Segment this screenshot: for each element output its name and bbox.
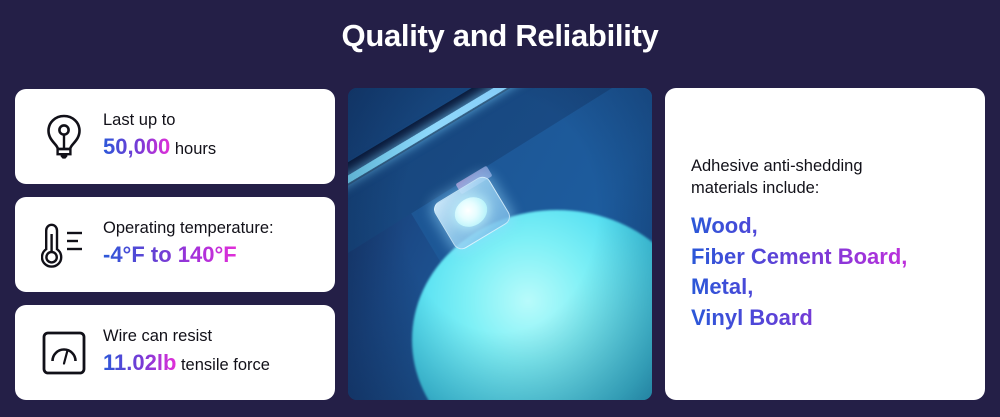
spec-label-temperature: Operating temperature: xyxy=(103,218,274,238)
spec-value-tensile: 11.02lb tensile force xyxy=(103,349,270,379)
spec-card-lifetime: Last up to 50,000 hours xyxy=(15,89,335,184)
spec-value-temperature: -4°F to 140°F xyxy=(103,241,274,271)
spec-text-lifetime: Last up to 50,000 hours xyxy=(103,110,216,163)
quality-reliability-banner: Quality and Reliability Last up to 50,00… xyxy=(0,0,1000,417)
photo-vignette xyxy=(348,88,652,400)
materials-list-item: Fiber Cement Board, xyxy=(691,242,959,273)
materials-list: Wood, Fiber Cement Board, Metal, Vinyl B… xyxy=(691,211,959,333)
spec-label-lifetime: Last up to xyxy=(103,110,216,130)
spec-value-suffix-lifetime: hours xyxy=(170,140,216,158)
materials-list-item: Wood, xyxy=(691,211,959,242)
spec-card-list: Last up to 50,000 hours Operating temper… xyxy=(15,89,335,400)
spec-value-number-temperature: -4°F to 140°F xyxy=(103,242,237,267)
spec-card-tensile: Wire can resist 11.02lb tensile force xyxy=(15,305,335,400)
product-photo xyxy=(348,88,652,400)
lightbulb-icon xyxy=(33,113,95,161)
spec-text-temperature: Operating temperature: -4°F to 140°F xyxy=(103,218,274,271)
materials-list-item: Vinyl Board xyxy=(691,303,959,334)
spec-text-tensile: Wire can resist 11.02lb tensile force xyxy=(103,326,270,379)
spec-value-number-tensile: 11.02lb xyxy=(103,350,176,375)
spec-value-suffix-tensile: tensile force xyxy=(176,356,270,374)
spec-value-lifetime: 50,000 hours xyxy=(103,133,216,163)
materials-intro-text: Adhesive anti-shedding materials include… xyxy=(691,155,901,199)
materials-list-item: Metal, xyxy=(691,272,959,303)
thermometer-icon xyxy=(33,221,95,269)
spec-label-tensile: Wire can resist xyxy=(103,326,270,346)
materials-card: Adhesive anti-shedding materials include… xyxy=(665,88,985,400)
page-title: Quality and Reliability xyxy=(0,18,1000,54)
gauge-icon xyxy=(33,330,95,376)
spec-value-number-lifetime: 50,000 xyxy=(103,134,170,159)
spec-card-temperature: Operating temperature: -4°F to 140°F xyxy=(15,197,335,292)
